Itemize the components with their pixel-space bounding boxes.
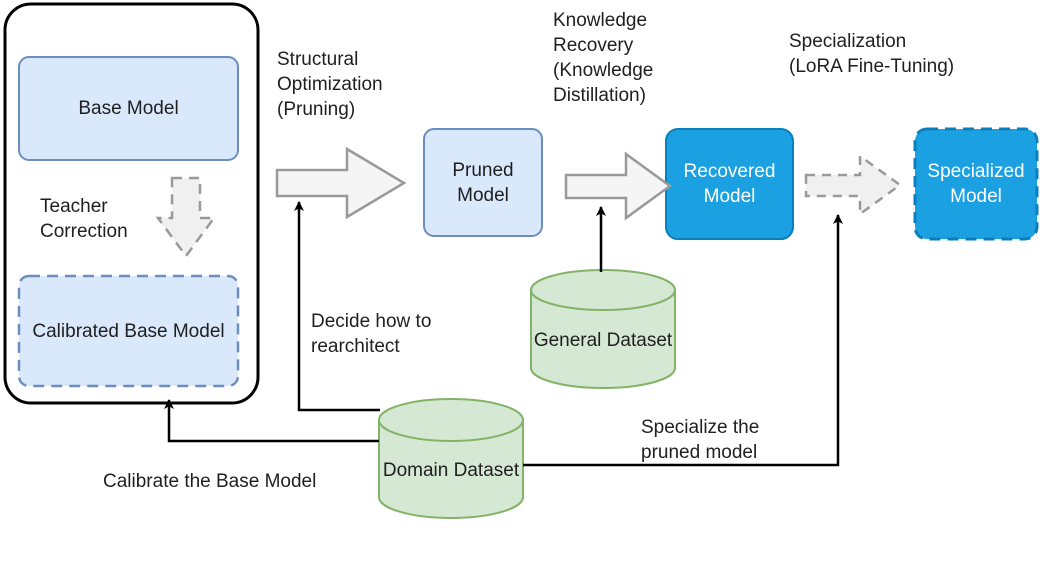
pruning-block-arrow [277, 149, 404, 217]
general-dataset-cylinder[interactable] [531, 270, 675, 388]
recovered-model-box[interactable] [666, 129, 793, 239]
domain-dataset-cylinder[interactable] [379, 399, 523, 518]
stage-label-structural-optimization: Structural Optimization (Pruning) [277, 47, 383, 122]
connector-domain-dataset-to-calibrated-base-model [169, 400, 379, 441]
distillation-block-arrow [566, 154, 670, 218]
calibrated-base-model-box[interactable] [19, 276, 238, 386]
pruned-model-box[interactable] [424, 129, 542, 236]
diagram-canvas: Base Model Calibrated Base Model Pruned … [0, 0, 1042, 568]
specialized-model-box[interactable] [915, 129, 1037, 239]
edge-label-teacher-correction: Teacher Correction [40, 194, 128, 244]
base-model-box[interactable] [19, 57, 238, 160]
edge-label-specialize-the-pruned-model: Specialize the pruned model [641, 415, 759, 465]
edge-label-decide-how-to-rearchitect: Decide how to rearchitect [311, 309, 431, 359]
edge-label-calibrate-the-base-model: Calibrate the Base Model [103, 469, 316, 494]
stage-label-specialization: Specialization (LoRA Fine-Tuning) [789, 29, 954, 79]
stage-label-knowledge-recovery: Knowledge Recovery (Knowledge Distillati… [553, 8, 653, 108]
connector-domain-dataset-to-pruning [299, 202, 380, 410]
lora-block-arrow [806, 156, 900, 214]
